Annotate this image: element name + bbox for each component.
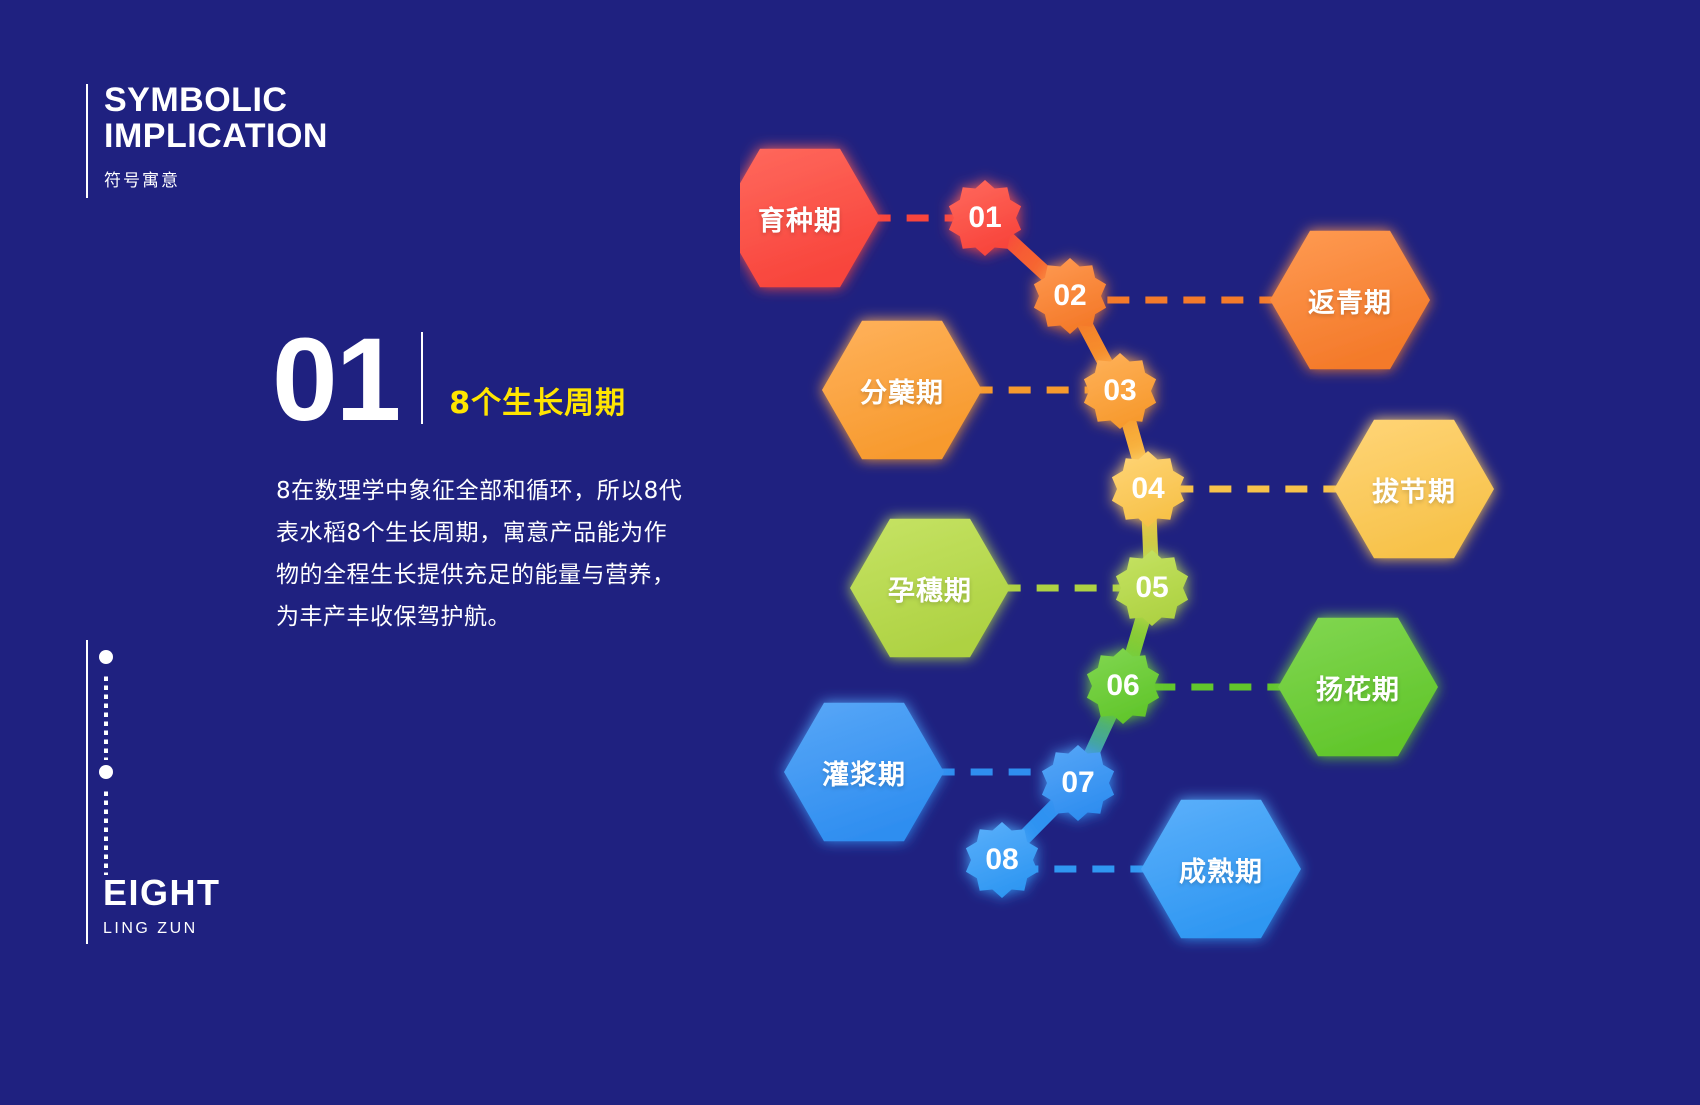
stage-hexagon[interactable] <box>740 149 880 288</box>
header-block: SYMBOLIC IMPLICATION 符号寓意 <box>104 82 328 191</box>
left-panel: SYMBOLIC IMPLICATION 符号寓意 01 8个生长周期 8在数理… <box>0 0 760 1105</box>
section-body-text: 8在数理学中象征全部和循环，所以8代表水稻8个生长周期，寓意产品能为作物的全程生… <box>276 470 684 638</box>
stage-hexagon[interactable] <box>1334 420 1494 559</box>
decor-dot <box>99 650 113 664</box>
diagram-svg <box>740 0 1700 1105</box>
decor-dash-column <box>104 789 108 875</box>
stage-hexagon[interactable] <box>1278 618 1438 757</box>
stage-node[interactable] <box>1116 550 1188 626</box>
section-number-divider <box>421 332 423 424</box>
decor-dot-group-2 <box>99 765 113 875</box>
decor-dot <box>99 765 113 779</box>
footer-pinyin: LING ZUN <box>103 920 221 938</box>
stage-hexagon[interactable] <box>822 321 982 460</box>
stage-hexagon[interactable] <box>1141 800 1301 939</box>
stage-node[interactable] <box>1084 353 1156 429</box>
stage-node[interactable] <box>1087 648 1159 724</box>
footer-brand: EIGHT <box>103 874 221 912</box>
footer-block: EIGHT LING ZUN <box>103 874 221 938</box>
header-cn-subtitle: 符号寓意 <box>104 166 328 191</box>
stage-node[interactable] <box>1112 451 1184 527</box>
header-vertical-rule <box>86 84 88 198</box>
decor-dash-column <box>104 674 108 760</box>
section-number: 01 <box>272 330 399 430</box>
decor-dot-group-1 <box>99 650 113 760</box>
stage-hexagon[interactable] <box>1270 231 1430 370</box>
section-subtitle: 8个生长周期 <box>449 378 626 430</box>
header-en-line1: SYMBOLIC <box>104 82 328 118</box>
footer-vertical-rule <box>86 872 88 944</box>
growth-cycle-diagram: 育种期01返青期02分蘖期03拔节期04孕穗期05扬花期06灌浆期07成熟期08 <box>740 0 1700 1105</box>
stage-hexagon[interactable] <box>784 703 944 842</box>
stage-hexagon[interactable] <box>850 519 1010 658</box>
section-number-row: 01 8个生长周期 <box>272 330 626 430</box>
header-en-line2: IMPLICATION <box>104 118 328 154</box>
